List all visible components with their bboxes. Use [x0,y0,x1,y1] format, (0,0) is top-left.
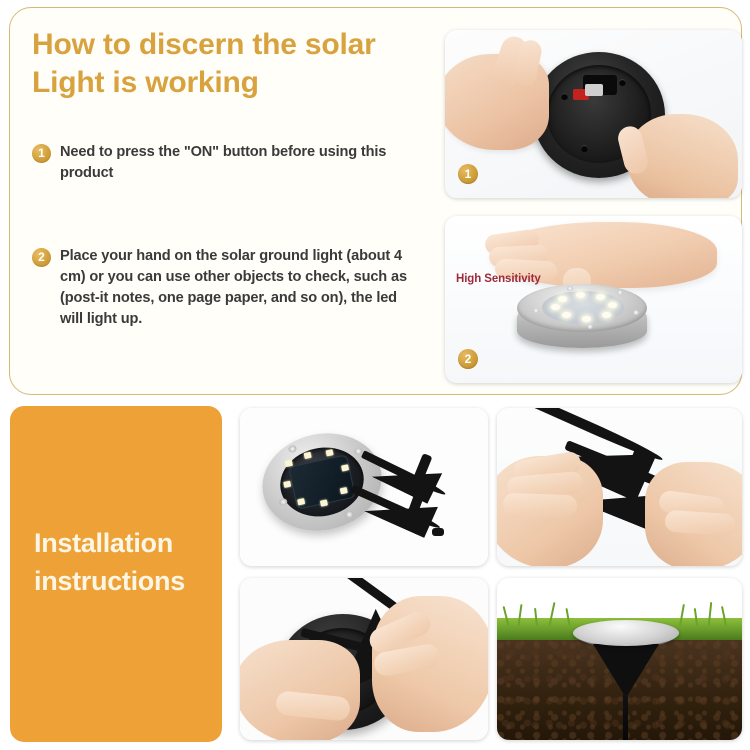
step-number-badge-2: 2 [32,248,51,267]
installation-instructions-title: Installation instructions [34,524,214,600]
photo-inserting-spike [240,578,488,740]
photo-press-on-button: 1 [445,30,742,198]
step-item-1: 1 Need to press the "ON" button before u… [32,142,422,184]
installation-title-line-2: instructions [34,562,214,600]
photo-installed-in-ground-artwork [497,578,742,740]
installation-instructions-panel: Installation instructions [10,406,222,742]
product-instruction-infographic: How to discern the solar Light is workin… [0,0,750,750]
photo-light-and-spikes [240,408,488,566]
step-text-1: Need to press the "ON" button before usi… [60,142,422,184]
high-sensitivity-label: High Sensitivity [456,273,541,285]
photo-badge-1: 1 [458,164,478,184]
step-number-badge-1: 1 [32,144,51,163]
page-title: How to discern the solar Light is workin… [32,26,432,102]
step-text-2: Place your hand on the solar ground ligh… [60,246,422,330]
photo-light-and-spikes-artwork [240,408,488,566]
photo-hands-assembling-spikes [497,408,742,566]
page-title-line-1: How to discern the solar [32,28,376,61]
photo-hand-over-light-artwork [445,216,742,383]
photo-badge-2: 2 [458,349,478,369]
photo-installed-in-ground [497,578,742,740]
photo-hand-over-light: High Sensitivity 2 [445,216,742,383]
step-item-2: 2 Place your hand on the solar ground li… [32,246,422,330]
how-it-works-card: How to discern the solar Light is workin… [9,7,742,395]
page-title-line-2: Light is working [32,64,432,102]
photo-press-on-button-artwork [445,30,742,198]
photo-hands-assembling-spikes-artwork [497,408,742,566]
photo-inserting-spike-artwork [240,578,488,740]
installation-title-line-1: Installation [34,524,214,562]
